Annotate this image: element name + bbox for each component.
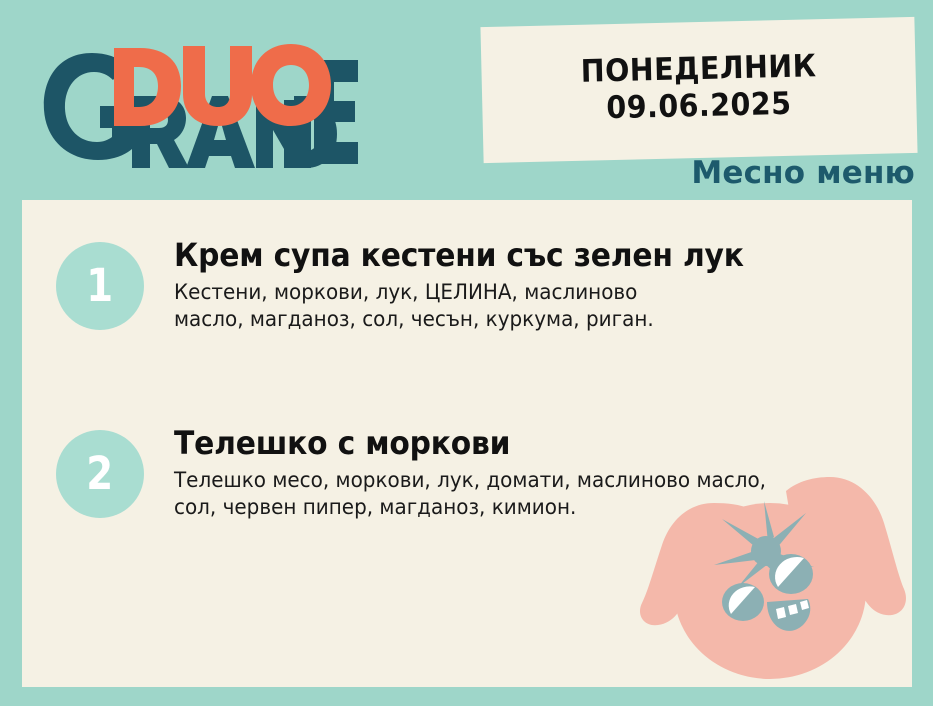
brand-logo (28, 18, 358, 183)
menu-item: 1 Крем супа кестени със зелен лук Кестен… (56, 238, 787, 333)
menu-item-text: Телешко с моркови Телешко месо, моркови,… (174, 426, 797, 521)
menu-card: 1 Крем супа кестени със зелен лук Кестен… (22, 200, 912, 687)
menu-poster: ПОНЕДЕЛНИК 09.06.2025 Месно меню (0, 0, 933, 706)
menu-item-number: 1 (87, 263, 114, 308)
section-label: Месно меню (691, 155, 915, 191)
menu-item: 2 Телешко с моркови Телешко месо, морков… (56, 426, 797, 521)
menu-item-title: Крем супа кестени със зелен лук (174, 238, 744, 274)
menu-item-number: 2 (87, 451, 114, 496)
date-label: 09.06.2025 (606, 86, 792, 127)
menu-item-title: Телешко с моркови (174, 426, 754, 462)
weekday-label: ПОНЕДЕЛНИК (580, 49, 816, 91)
menu-item-number-badge: 1 (56, 242, 144, 330)
menu-item-description: Кестени, моркови, лук, ЦЕЛИНА, маслиново… (174, 279, 756, 334)
menu-item-description: Телешко месо, моркови, лук, домати, масл… (174, 467, 766, 522)
menu-item-number-badge: 2 (56, 430, 144, 518)
menu-item-text: Крем супа кестени със зелен лук Кестени,… (174, 238, 787, 333)
date-banner: ПОНЕДЕЛНИК 09.06.2025 (480, 17, 917, 163)
